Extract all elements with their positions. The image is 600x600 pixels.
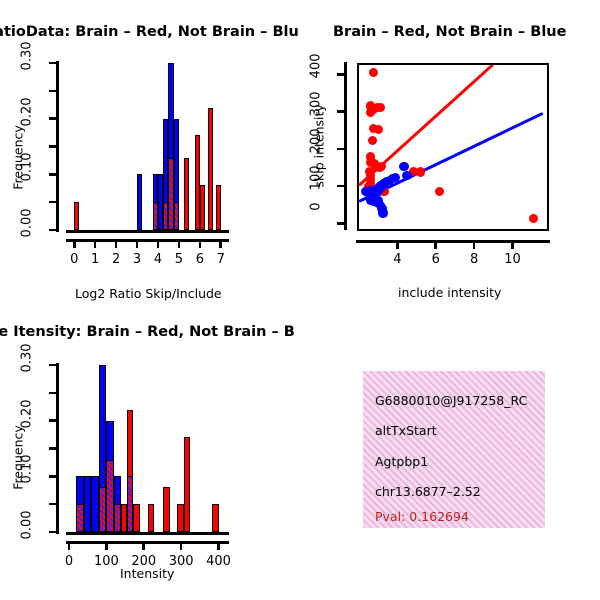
scatter-x-tick-label: 8 (458, 252, 490, 267)
histogram-bar-overlap (127, 476, 133, 532)
scatter-x-tick (473, 241, 476, 249)
info-line-probeset: G6880010@J917258_RC (375, 393, 527, 408)
scatter-plot-box (357, 63, 549, 231)
gene-intensity-histogram-y-tick (49, 475, 57, 478)
histogram-bar-overlap (153, 202, 158, 230)
scatter-x-tick (511, 241, 514, 249)
scatter-y-tick-label: 0 (309, 203, 324, 241)
scatter-y-tick-label: 100 (309, 166, 324, 204)
event-info-panel: G6880010@J917258_RC altTxStart Agtpbp1 c… (363, 371, 545, 528)
gene-intensity-title: ne Itensity: Brain – Red, Not Brain – B (0, 324, 295, 340)
panel-gene-intensity-histogram: ne Itensity: Brain – Red, Not Brain – B … (0, 310, 300, 600)
gene-intensity-histogram-y-tick (49, 447, 57, 450)
histogram-bar-overlap (99, 487, 106, 532)
histogram-bar (133, 504, 140, 532)
gene-intensity-histogram-x-axis (66, 532, 229, 535)
scatter-point (374, 125, 383, 134)
scatter-x-tick-label: 4 (381, 252, 413, 267)
scatter-point (377, 162, 386, 171)
scatter-y-tick-label: 300 (309, 91, 324, 129)
histogram-bar (137, 174, 142, 230)
ratio-histogram-y-tick (49, 117, 57, 120)
scatter-point (376, 103, 385, 112)
histogram-bar (177, 504, 184, 532)
ratio-histogram-y-tick-label: 0.30 (20, 42, 35, 82)
scatter-point (402, 171, 411, 180)
ratio-histogram-y-tick (49, 62, 57, 65)
info-line-pvalue: Pval: 0.162694 (375, 509, 469, 524)
scatter-point (529, 214, 538, 223)
histogram-bar (184, 437, 190, 532)
gene-intensity-histogram-y-tick (49, 531, 57, 534)
ratio-histogram-x-axis (66, 230, 229, 233)
info-line-locus: chr13.6877–2.52 (375, 484, 481, 499)
gene-intensity-histogram-y-tick-label: 0.30 (20, 344, 35, 384)
gene-intensity-histogram-x-tick-label: 100 (90, 554, 122, 569)
scatter-point (368, 136, 377, 145)
scatter-y-tick (337, 110, 345, 113)
gene-intensity-histogram-y-tick-label: 0.10 (20, 455, 35, 495)
scatter-y-tick (337, 185, 345, 188)
histogram-bar (184, 158, 189, 230)
scatter-point (369, 68, 378, 77)
scatter-point (378, 208, 387, 217)
histogram-bar (212, 504, 219, 532)
gene-intensity-histogram-x-tick-label: 300 (165, 554, 197, 569)
histogram-bar (163, 487, 170, 532)
histogram-bar-overlap (106, 460, 113, 532)
info-line-event-type: altTxStart (375, 423, 437, 438)
scatter-x-tick (434, 241, 437, 249)
scatter-point (391, 173, 400, 182)
histogram-bar (84, 476, 91, 532)
histogram-bar (91, 476, 98, 532)
gene-intensity-histogram-y-tick-label: 0.20 (20, 399, 35, 439)
gene-intensity-histogram-x-tick-label: 200 (128, 554, 160, 569)
ratio-histogram-y-tick (49, 201, 57, 204)
panel-intensity-scatter: Brain – Red, Not Brain – Blue skip inten… (300, 0, 600, 310)
scatter-y-tick-label: 400 (309, 54, 324, 92)
gene-intensity-histogram-y-tick-label: 0.00 (20, 511, 35, 551)
info-line-gene-symbol: Agtpbp1 (375, 454, 428, 469)
histogram-bar-overlap (174, 202, 179, 230)
gene-intensity-histogram-y-tick (49, 419, 57, 422)
gene-intensity-histogram-y-tick (49, 503, 57, 506)
scatter-y-axis (344, 62, 347, 230)
ratio-histogram-y-tick-label: 0.10 (20, 153, 35, 193)
ratio-histogram-y-tick-label: 0.20 (20, 97, 35, 137)
histogram-bar (216, 185, 221, 230)
scatter-x-axis (356, 240, 550, 243)
gene-intensity-histogram-y-tick (49, 392, 57, 395)
histogram-bar (208, 108, 213, 230)
scatter-title: Brain – Red, Not Brain – Blue (333, 24, 566, 40)
ratio-histogram-y-tick (49, 90, 57, 93)
ratio-histogram-y-tick (49, 145, 57, 148)
scatter-point (435, 187, 444, 196)
scatter-xlabel: include intensity (398, 285, 501, 300)
scatter-point (399, 162, 408, 171)
scatter-point (416, 167, 425, 176)
panel-ratio-histogram: RatioData: Brain – Red, Not Brain – Blu … (0, 0, 300, 310)
histogram-bar (200, 185, 205, 230)
scatter-x-tick-label: 10 (496, 252, 528, 267)
ratio-histogram-y-tick (49, 173, 57, 176)
gene-intensity-histogram-x-tick-label: 0 (53, 554, 85, 569)
scatter-x-tick-label: 6 (420, 252, 452, 267)
histogram-bar-overlap (76, 504, 83, 532)
gene-intensity-histogram-x-tickbar (66, 541, 229, 544)
gene-intensity-histogram-y-tick (49, 364, 57, 367)
ratio-histogram-y-tick-label: 0.00 (20, 209, 35, 249)
scatter-x-tick (396, 241, 399, 249)
scatter-y-tick (337, 222, 345, 225)
histogram-bar (148, 504, 155, 532)
ratio-histogram-y-tick (49, 229, 57, 232)
scatter-y-tick-label: 200 (309, 128, 324, 166)
histogram-bar-overlap (114, 504, 121, 532)
figure-canvas: RatioData: Brain – Red, Not Brain – Blu … (0, 0, 600, 600)
histogram-bar (74, 202, 79, 230)
gene-intensity-histogram-x-tick-label: 400 (203, 554, 235, 569)
gene-intensity-plot-area (69, 365, 226, 532)
scatter-y-tick (337, 73, 345, 76)
ratio-histogram-x-tick-label: 7 (205, 252, 237, 267)
ratio-histogram-title: RatioData: Brain – Red, Not Brain – Blu (0, 24, 299, 40)
ratio-histogram-x-tickbar (66, 239, 229, 242)
scatter-y-tick (337, 148, 345, 151)
ratio-histogram-plot-area (69, 63, 226, 230)
ratio-histogram-xlabel: Log2 Ratio Skip/Include (75, 286, 222, 301)
